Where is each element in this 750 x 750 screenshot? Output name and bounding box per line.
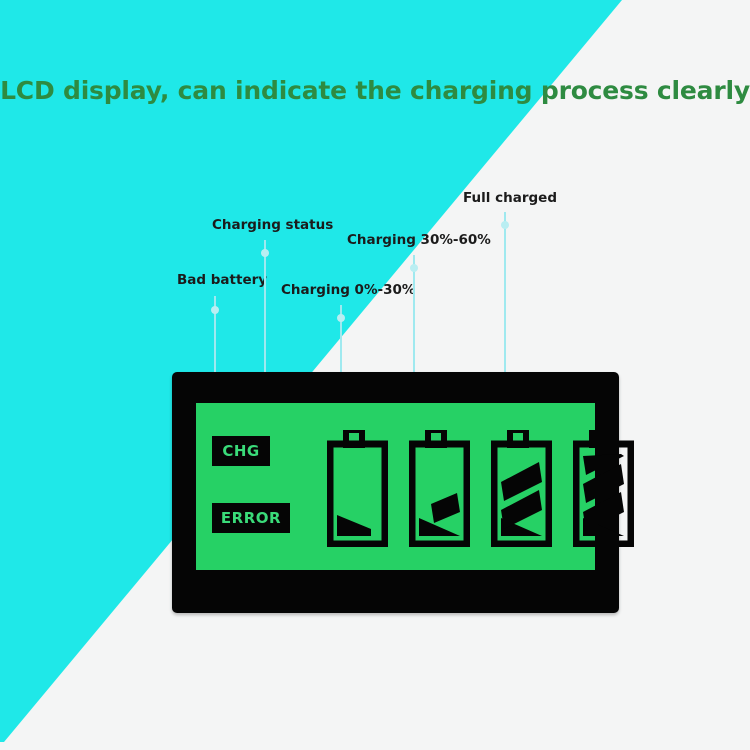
battery-icon-2: [409, 430, 470, 547]
lcd-screen: CHG ERROR: [196, 403, 595, 570]
page-title: LCD display, can indicate the charging p…: [0, 76, 750, 105]
status-badge-error: ERROR: [212, 503, 290, 533]
charger-bezel: CHG ERROR: [172, 372, 619, 613]
battery-icon-3: [491, 430, 552, 547]
callout-charging-30-60: Charging 30%-60%: [347, 232, 491, 248]
callout-charging-status: Charging status: [212, 217, 333, 233]
status-badge-chg: CHG: [212, 436, 270, 466]
callout-full-charged: Full charged: [463, 190, 557, 206]
product-infographic: LCD display, can indicate the charging p…: [0, 0, 750, 750]
callout-charging-0-30: Charging 0%-30%: [281, 282, 415, 298]
callout-bad-battery: Bad battery: [177, 272, 267, 288]
battery-icon-1: [327, 430, 388, 547]
battery-icon-4: [573, 430, 634, 547]
